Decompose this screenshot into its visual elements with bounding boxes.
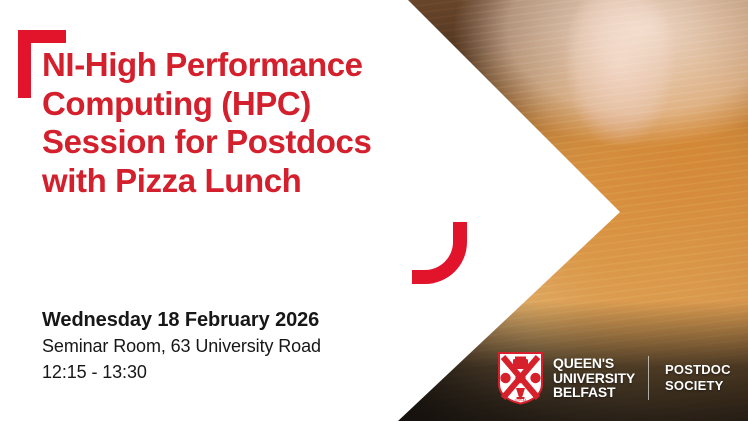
red-quarter-arc-icon [410,220,474,286]
event-poster: NI-High Performance Computing (HPC) Sess… [0,0,748,421]
university-line-3: BELFAST [553,385,635,400]
headline-line-3: Session for Postdocs [42,123,472,162]
event-details: Wednesday 18 February 2026 Seminar Room,… [42,307,321,385]
headline-line-2: Computing (HPC) [42,85,472,124]
university-wordmark: QUEEN'S UNIVERSITY BELFAST [553,356,635,400]
event-time: 12:15 - 13:30 [42,360,321,386]
university-line-1: QUEEN'S [553,356,635,371]
logo-lockup: SOPHIA QUEEN'S UNIVERSITY BELFAST POSTDO… [497,351,731,405]
event-venue: Seminar Room, 63 University Road [42,334,321,360]
bracket-horizontal-bar [18,30,66,43]
society-line-1: POSTDOC [665,362,731,378]
page-title: NI-High Performance Computing (HPC) Sess… [42,46,472,200]
postdoc-society-wordmark: POSTDOC SOCIETY [665,362,731,393]
logo-divider [648,356,649,400]
headline-line-4: with Pizza Lunch [42,162,472,201]
event-date: Wednesday 18 February 2026 [42,307,321,334]
university-line-2: UNIVERSITY [553,371,635,386]
crest-motto-text: SOPHIA [514,399,527,403]
queens-university-belfast-crest-icon: SOPHIA [497,351,544,405]
society-line-2: SOCIETY [665,378,731,394]
headline-line-1: NI-High Performance [42,46,472,85]
